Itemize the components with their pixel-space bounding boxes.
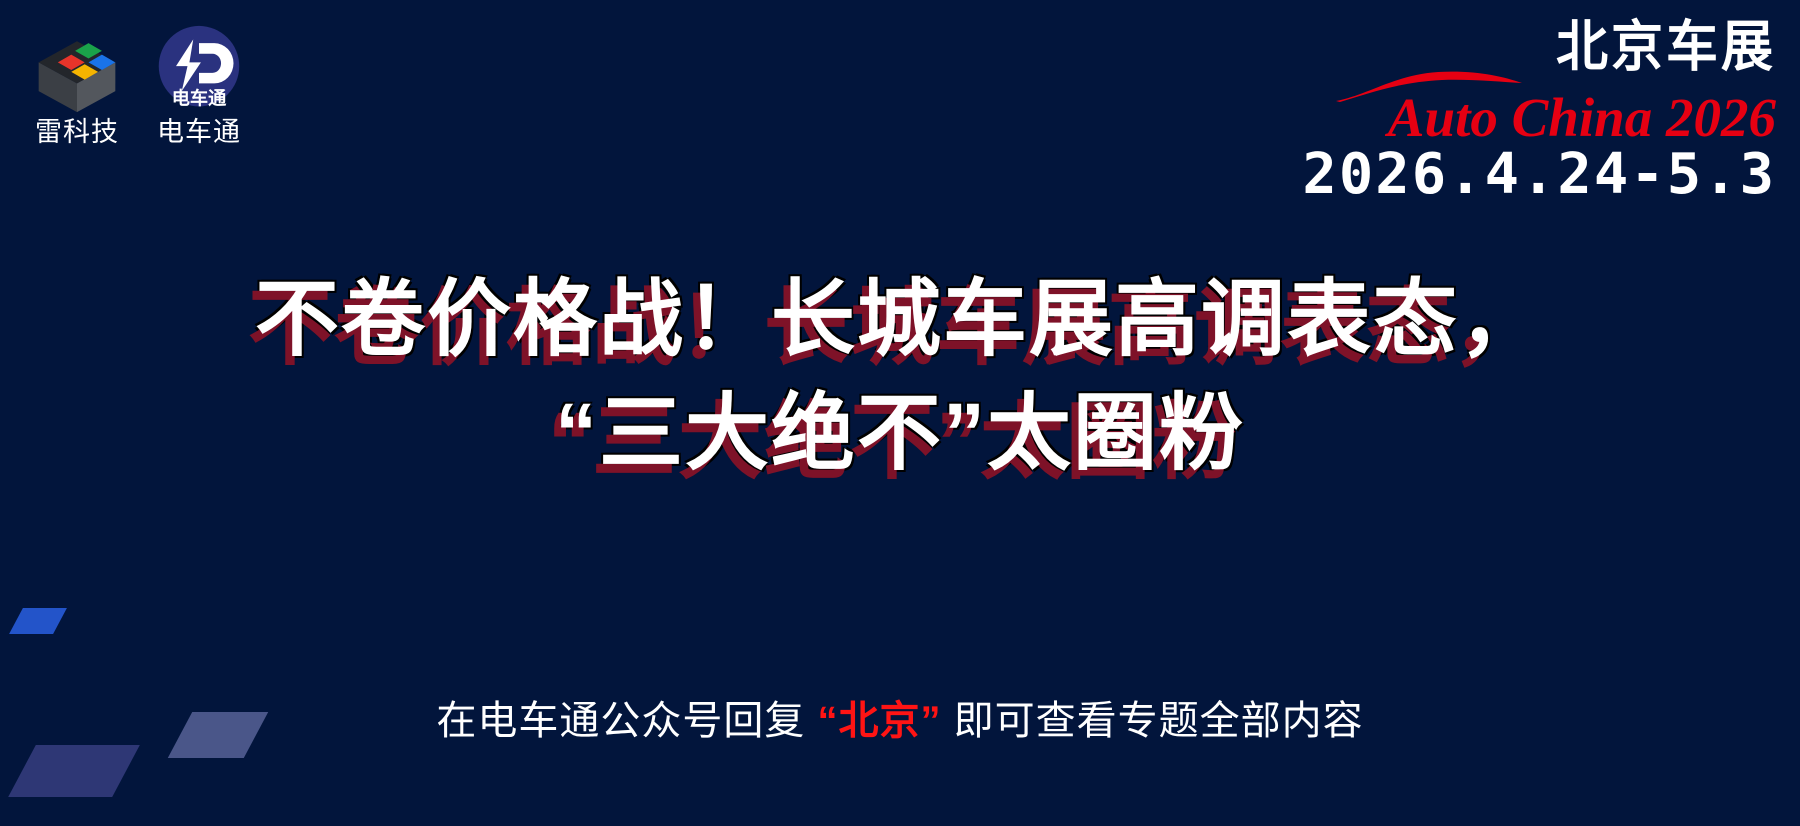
brand-dianchetong-label: 电车通 [157, 118, 241, 148]
parallelogram-small-blue-icon [9, 608, 67, 634]
cta-suffix: 即可查看专题全部内容 [942, 699, 1364, 743]
headline: 不卷价格战！长城车展高调表态， “三大绝不”太圈粉 [0, 262, 1800, 490]
headline-line-1: 不卷价格战！长城车展高调表态， [0, 262, 1800, 376]
brand-dianchetong[interactable]: 电车通 电车通 [150, 24, 248, 148]
event-lockup: 北京车展 Auto China 2026 2026.4.24-5.3 [1076, 22, 1776, 203]
parallelogram-large-indigo-icon [8, 745, 140, 797]
event-title-en: Auto China 2026 [1388, 90, 1776, 145]
lightning-d-circle-icon: 电车通 [151, 24, 247, 116]
svg-text:电车通: 电车通 [172, 88, 227, 109]
brand-logo-group: 雷科技 电车通 电车通 [28, 24, 248, 148]
brand-leitech-label: 雷科技 [35, 118, 119, 148]
promo-banner: 雷科技 电车通 电车通 北京车展 Auto China 2026 2026.4.… [0, 0, 1800, 826]
cta-prefix: 在电车通公众号回复 [436, 699, 817, 743]
cube-logo-icon [29, 24, 125, 116]
cta-text: 在电车通公众号回复 “北京” 即可查看专题全部内容 [0, 697, 1800, 745]
brand-leitech[interactable]: 雷科技 [28, 24, 126, 148]
headline-line-2: “三大绝不”太圈粉 [0, 376, 1800, 490]
event-date: 2026.4.24-5.3 [1062, 147, 1776, 203]
event-title-en-wrap: Auto China 2026 [1076, 79, 1776, 141]
cta-highlight: “北京” [818, 699, 942, 743]
